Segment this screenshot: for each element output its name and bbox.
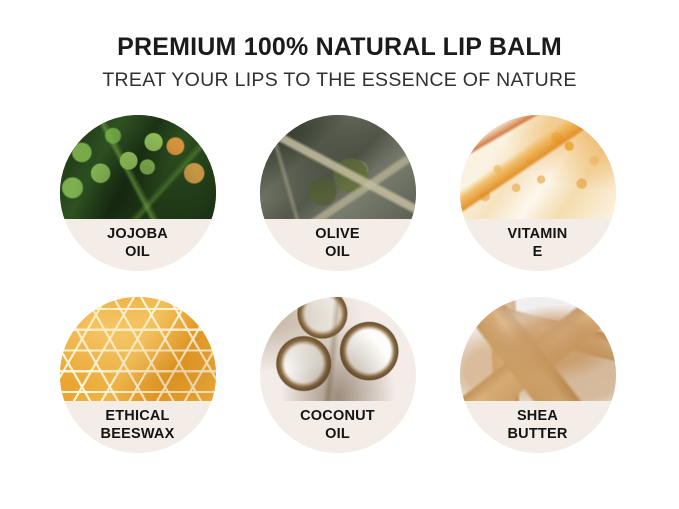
ingredient-circle: COCONUT OIL xyxy=(260,297,416,453)
page-subtitle: TREAT YOUR LIPS TO THE ESSENCE OF NATURE xyxy=(0,69,679,91)
ingredient-card-olive-oil: OLIVE OIL xyxy=(260,115,420,275)
ingredient-label: ETHICAL BEESWAX xyxy=(101,408,175,442)
ingredient-label-band: JOJOBA OIL xyxy=(60,219,216,270)
ingredient-circle: SHEA BUTTER xyxy=(460,297,616,453)
ingredient-label: SHEA BUTTER xyxy=(507,408,567,442)
ingredient-label-band: OLIVE OIL xyxy=(260,219,416,270)
ingredient-grid: JOJOBA OIL OLIVE OIL VITAM xyxy=(40,115,640,479)
ingredient-label: JOJOBA OIL xyxy=(107,226,168,260)
page-title: PREMIUM 100% NATURAL LIP BALM xyxy=(0,34,679,62)
ingredient-card-jojoba-oil: JOJOBA OIL xyxy=(60,115,220,275)
ingredient-label-band: VITAMIN E xyxy=(460,219,616,270)
ingredient-circle: JOJOBA OIL xyxy=(60,115,216,271)
ingredient-card-coconut-oil: COCONUT OIL xyxy=(260,297,420,457)
ingredient-label-band: SHEA BUTTER xyxy=(460,401,616,452)
olive-branch-photo xyxy=(260,115,416,220)
honeycomb-photo xyxy=(60,297,216,402)
jojoba-plant-photo xyxy=(60,115,216,220)
ingredient-circle: ETHICAL BEESWAX xyxy=(60,297,216,453)
ingredient-circle: OLIVE OIL xyxy=(260,115,416,271)
ingredient-label-band: COCONUT OIL xyxy=(260,401,416,452)
vitamin-e-oil-photo xyxy=(460,115,616,220)
lip-balm-ingredients-infographic: PREMIUM 100% NATURAL LIP BALM TREAT YOUR… xyxy=(0,0,679,509)
ingredient-label: VITAMIN E xyxy=(508,226,568,260)
ingredient-card-vitamin-e: VITAMIN E xyxy=(460,115,620,275)
ingredient-label: COCONUT OIL xyxy=(300,408,375,442)
ingredient-card-shea-butter: SHEA BUTTER xyxy=(460,297,620,457)
ingredient-label: OLIVE OIL xyxy=(315,226,360,260)
ingredient-card-ethical-beeswax: ETHICAL BEESWAX xyxy=(60,297,220,457)
shea-butter-chunks-photo xyxy=(460,297,616,402)
coconut-halves-photo xyxy=(260,297,416,402)
ingredient-label-band: ETHICAL BEESWAX xyxy=(60,401,216,452)
header: PREMIUM 100% NATURAL LIP BALM TREAT YOUR… xyxy=(0,0,679,91)
ingredient-circle: VITAMIN E xyxy=(460,115,616,271)
